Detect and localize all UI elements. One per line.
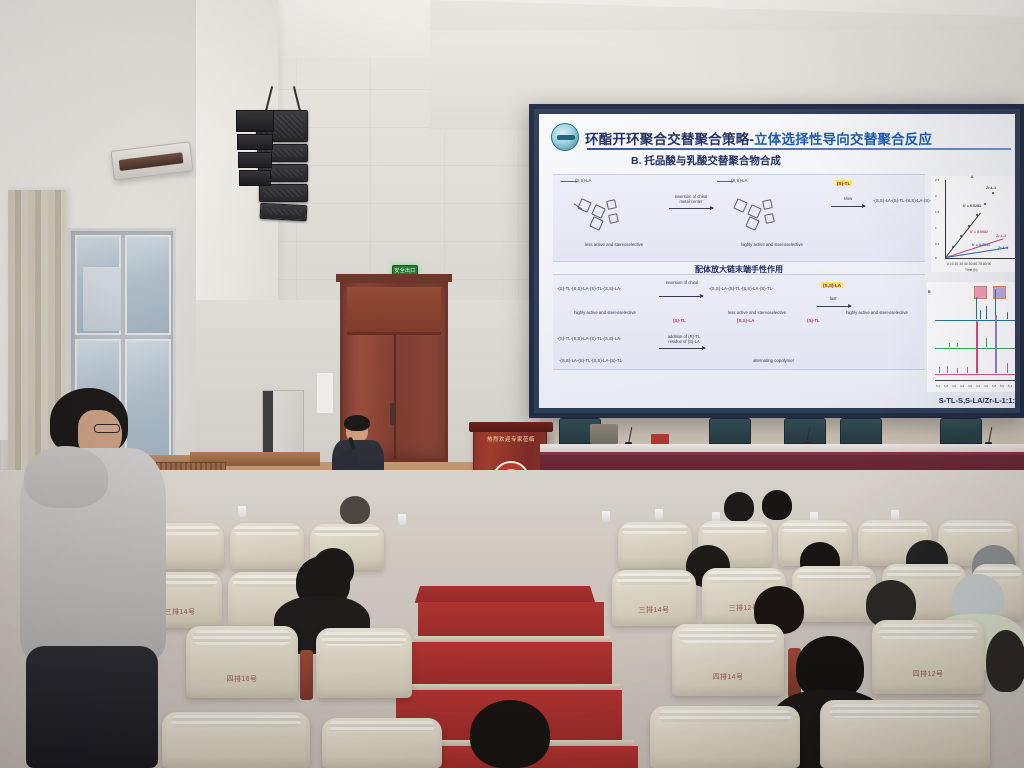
chain-label: -(S,S)-LA-(S)-TL-(S,S)-LA-(S)-TL- [873,198,937,203]
y-tick: 1.5 [935,210,939,214]
series-rate-label-2: k' = 0.0082 [970,230,988,234]
reaction-arrow [831,206,865,207]
slide-content: 环酯开环聚合交替聚合策略-立体选择性导向交替聚合反应 B. 托品酸与乳酸交替聚合… [539,114,1015,408]
auditorium-seat[interactable] [792,566,876,622]
auditorium-seat[interactable] [618,522,692,568]
arrow-annotation: inversion of chiral [659,280,705,285]
slide-footer-label: S-TL-S,S-LA/Zr-L-1:1:1 [931,396,1015,405]
window-pane [75,235,121,335]
y-tick: 0.5 [935,242,939,246]
seat-label: 四排16号 [186,674,298,684]
nmr-peak [957,368,958,373]
speaker-box [238,152,272,168]
auditorium-seat[interactable] [820,700,990,768]
view-building [83,267,121,331]
x-tick: 4.2 [976,384,980,388]
auditorium-seat[interactable]: 三排14号 [612,570,696,626]
trace-baseline-green [935,348,1015,349]
x-tick-row: 0 10 20 30 40 50 60 70 80 90 [947,262,991,266]
auditorium-seat[interactable] [650,706,800,768]
bond [717,181,733,182]
structure-caption: less active and stereoselective [559,242,669,247]
structure-caption: less active and stereoselective [705,310,809,315]
plot-title-a: A [971,175,973,179]
rigging-wire [265,86,273,112]
audience-head [986,630,1024,692]
x-tick: 4.4 [960,384,964,388]
nmr-peak [986,306,987,319]
paper-cup [655,509,663,520]
carpet-step [418,602,604,638]
rigging-wire [293,86,301,112]
reaction-arrow [659,296,703,297]
highlight-label: (S,S)-LA [821,282,843,288]
nmr-peak [1007,363,1008,373]
data-point [992,192,994,194]
student-pants [26,646,158,768]
door-handle[interactable] [390,403,395,425]
x-tick: 5.6 [1000,384,1004,388]
series-name-3: Zr-L-3 [998,246,1008,250]
ring-structure [764,213,775,224]
exit-sign-label: 安全出口 [394,269,415,274]
audience-head [724,492,754,522]
spectra-title-b: B [928,290,931,294]
auditorium-seat[interactable] [322,718,442,768]
trace-baseline-blue [935,320,1015,321]
carpet-step [408,642,612,686]
wall-notice [316,372,334,414]
arrow-annotation: addition of (R)-TL residue of (S)-LA [659,334,709,345]
audience-head [470,700,550,768]
speaker-box [236,110,274,132]
x-tick: 5.2 [936,384,940,388]
podium-banner: 热烈欢迎专家莅临 [479,433,543,445]
mechanism-label: (S)-TL [807,318,820,323]
title-underline [587,148,1011,150]
door-split [394,335,396,459]
kinetics-plot: A 2.5 2 1.5 1 0.5 0 k' [931,176,1015,272]
slide-title: 环酯开环聚合交替聚合策略-立体选择性导向交替聚合反应 [585,128,1015,148]
line-array-speaker-right [236,110,274,220]
seat-armrest [300,650,313,700]
bond [561,181,577,182]
speaker-box [237,134,273,150]
reaction-arrow [817,306,851,307]
arrow-annotation-line1: inversion of chiral [666,280,699,285]
arrow-annotation-line2: residue of (S)-LA [668,339,700,344]
seat-label: 四排14号 [672,672,784,682]
structure-caption: highly active and stereoselective [831,310,923,315]
nmr-x-axis [935,380,1015,381]
highlight-label: (S)-TL [835,180,852,186]
projection-screen: 环酯开环聚合交替聚合策略-立体选择性导向交替聚合反应 B. 托品酸与乳酸交替聚合… [529,104,1024,418]
plot-axes: 2.5 2 1.5 1 0.5 0 k' = 0.0281 Zr-L-1 [945,180,1015,259]
ring-structure [606,199,617,210]
window-pane [125,235,171,335]
reaction-arrow [659,348,705,349]
nmr-peak [976,297,977,319]
nmr-peak [995,315,997,373]
nmr-peak [949,343,950,347]
arrow-annotation: inversion of chiral metal center [667,194,715,205]
structure-caption: highly active and stereoselective [717,242,827,247]
mechanism-label: (S,S)-LA [737,318,754,323]
auditorium-seat[interactable]: 四排14号 [672,624,784,696]
series-name-2: Zr-L-2 [996,234,1006,238]
slide-subtitle: B. 托品酸与乳酸交替聚合物合成 [631,153,781,168]
presenter-hair [344,415,370,431]
auditorium-seat[interactable] [230,523,304,569]
chain-label: -(S)-TL-(S,S)-LA-(S)-TL-(S,S)-LA- [557,286,621,291]
y-tick: 0 [935,256,937,260]
ac-vent [119,152,184,171]
nmr-peak [980,310,981,319]
slide-title-main: 环酯开环聚合交替聚合策略 [585,132,749,147]
x-tick: 5.8 [992,384,996,388]
chain-label: -(S,S)-LA-(S)-TL-(S,S)-LA-(S)-TL- [559,358,623,363]
trace-baseline-pink [935,374,1015,375]
nmr-peak [939,367,940,373]
paper-cup [602,511,610,522]
student-asking-question [6,388,166,768]
auditorium-seat[interactable] [316,628,412,698]
nmr-peak [1007,312,1008,319]
data-point [984,203,986,205]
y-tick: 1 [935,226,937,230]
x-tick: 4.0 [968,384,972,388]
ring-structure [608,213,619,224]
y-tick: 2.5 [935,178,939,182]
reaction-arrow [669,208,713,209]
arrow-annotation-line1: addition of (R)-TL [668,334,701,339]
reagent-label: (S,S)-LA [575,178,591,183]
laptop-icon [590,424,618,444]
x-axis-label: Time (h) [965,268,978,272]
chain-label: -(S)-TL-(S,S)-LA-(S)-TL-(S,S)-LA- [557,336,621,341]
slide-title-emphasis: 立体选择性导向交替聚合反应 [754,132,932,147]
speaker-box [239,170,271,186]
audience-head [340,496,370,524]
chain-label: alternating copolymer [753,358,794,363]
reagent-label: (S,S)-LA [731,178,747,183]
nmr-peak [957,343,958,347]
x-tick: 5.8 [944,384,948,388]
head-table-chair [709,418,751,444]
arrow-annotation-line1: inversion of chiral [675,194,708,199]
paper-cup [238,506,246,517]
x-tick: 5.4 [1008,384,1012,388]
paper-cup [398,514,406,525]
arrow-rate-label: fast [817,296,849,301]
series-rate-label-1: k' = 0.0281 [963,204,981,208]
nmr-peak [986,338,987,347]
head-table-chair [840,418,882,444]
y-tick: 2 [935,194,937,198]
head-table-chair [784,418,826,444]
arrow-annotation-line2: metal center [679,199,702,204]
nmr-spectra-chart: B [927,282,1015,392]
series-name-1: Zr-L-1 [986,186,996,190]
auditorium-seat[interactable]: 四排16号 [186,626,298,698]
seat-label: 三排14号 [612,605,696,615]
nmr-peak [947,366,948,373]
head-table-chair [940,418,982,444]
university-crest-icon [551,123,579,151]
podium-top [469,422,553,432]
seat-label: 四排12号 [872,669,984,679]
eyeglasses-icon [94,424,120,433]
ring-structure [762,199,773,210]
nmr-peak [976,321,978,373]
audience-head [762,490,792,520]
arrow-rate-label: slow [831,196,865,201]
lecture-hall-photo: 安全出口 环酯开环聚合交替聚合策略-立体选择性导向交替聚合反应 B. 托品酸与乳… [0,0,1024,768]
mechanism-label: (S)-TL [673,318,686,323]
door-transom [347,287,441,335]
series-rate-label-3: k' = 0.0041 [972,243,990,247]
hoodie-hood [24,446,108,508]
chain-label: -(S,S)-LA-(S)-TL-(S,S)-LA-(S)-TL- [709,286,773,291]
structure-caption: highly active and stereoselective [553,310,657,315]
auditorium-seat[interactable] [162,712,310,768]
x-tick: 4.6 [952,384,956,388]
auditorium-seat[interactable]: 四排12号 [872,620,984,694]
x-tick: 4.6 [984,384,988,388]
nmr-peak [967,367,968,373]
